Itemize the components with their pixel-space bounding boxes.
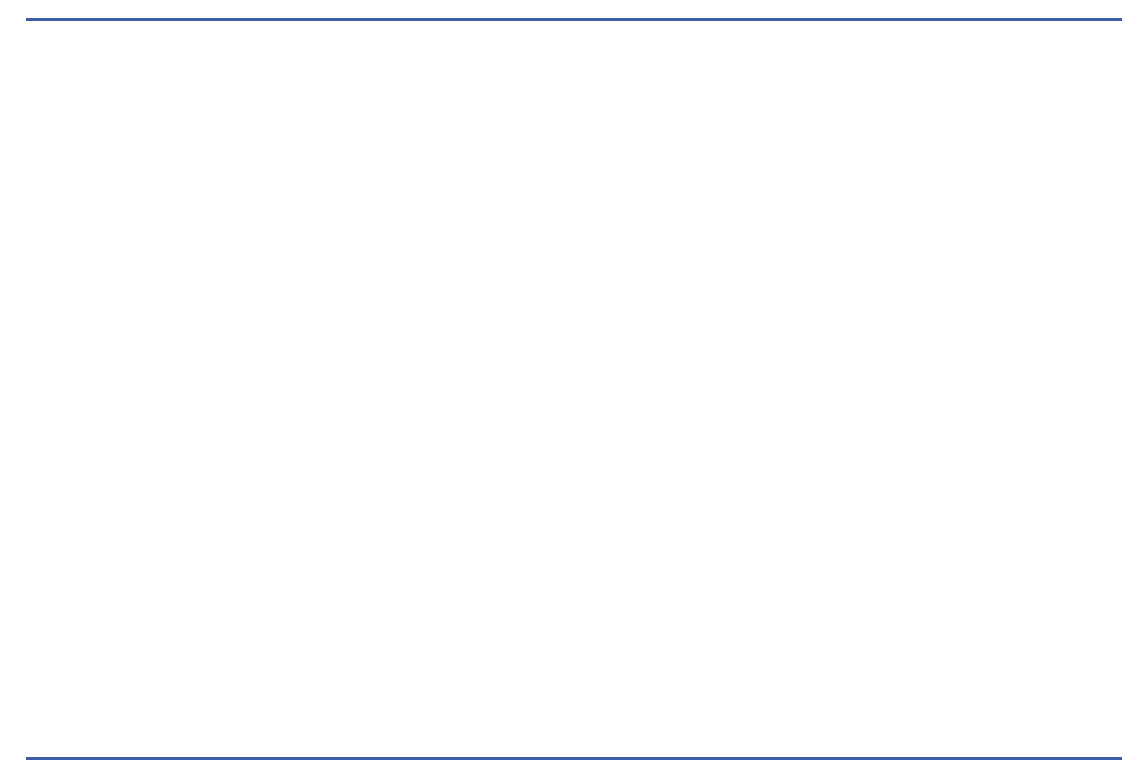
plot-area-regions [225, 188, 1092, 560]
top-rule [26, 18, 1122, 21]
chart-panel-regions [225, 188, 1092, 560]
chart-page [0, 0, 1148, 772]
plot-background [221, 78, 1088, 140]
chart-panel-china [221, 78, 1088, 140]
plot-area-china [221, 78, 1088, 140]
bottom-rule [26, 757, 1122, 760]
plot-background [225, 188, 1092, 560]
